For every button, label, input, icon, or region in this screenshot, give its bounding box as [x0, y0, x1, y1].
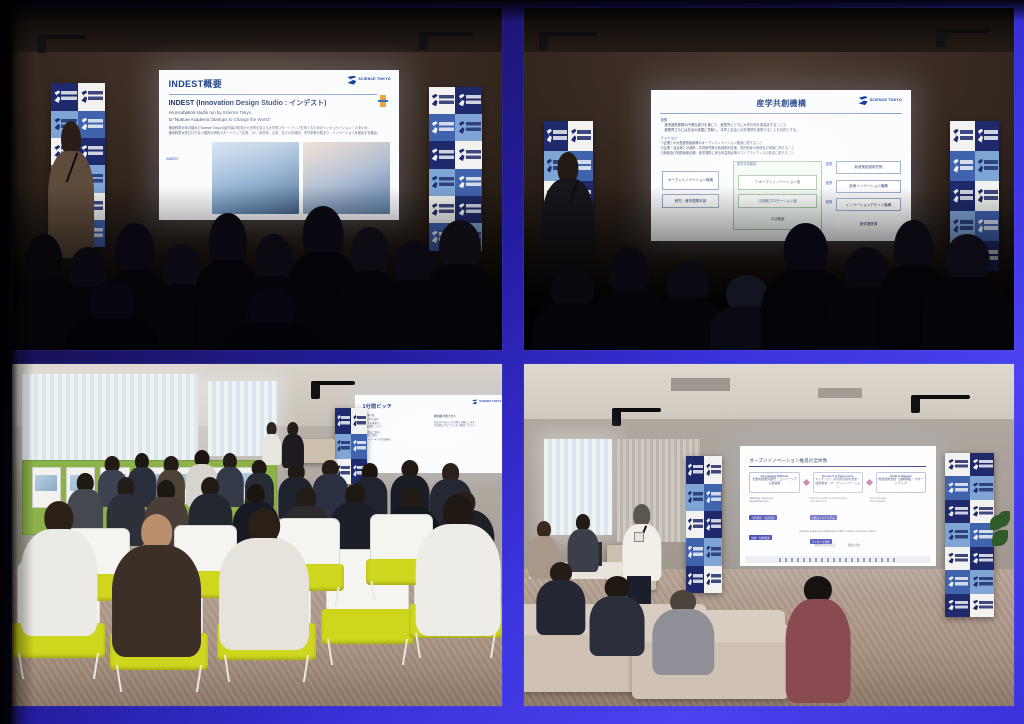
photo-panel-top-left[interactable]: SCIENCE TOKYO INDEST概要 INDEST (Innovatio…: [12, 8, 502, 350]
photo-panel-top-right[interactable]: SCIENCE TOKYO 産学共創機構 目的 産学連携業務の円滑な遂行を通じて…: [524, 8, 1014, 350]
audience-row: [12, 8, 502, 350]
audience-head: [81, 282, 145, 350]
audience-row: [524, 8, 1014, 350]
audience-head: [661, 261, 715, 350]
photo-panel-bottom-right[interactable]: オープンイノベーション推進の全体像 Co-creation Platform 大…: [524, 364, 1014, 706]
photo-grid: SCIENCE TOKYO INDEST概要 INDEST (Innovatio…: [12, 8, 1014, 706]
photo-collage: SCIENCE TOKYO INDEST概要 INDEST (Innovatio…: [0, 0, 1024, 724]
bright-seminar-room: SCIENCE TOKYO 1分間ピッチ 登壇者一覧 プログラム紹介 ピッチの進…: [12, 364, 502, 706]
front-row-attendees: [12, 364, 502, 706]
attendee-dark-shirt: [115, 514, 198, 651]
attendee-white-shirt: [223, 508, 306, 645]
audience-head: [433, 220, 487, 350]
audience-member-standing: [789, 576, 848, 699]
sofa-audience: [524, 364, 1014, 706]
audience-head: [602, 247, 656, 350]
audience-member: [656, 590, 710, 672]
audience-member: [539, 562, 583, 630]
photo-panel-bottom-left[interactable]: SCIENCE TOKYO 1分間ピッチ 登壇者一覧 プログラム紹介 ピッチの進…: [12, 364, 502, 706]
bright-lounge-room: オープンイノベーション推進の全体像 Co-creation Platform 大…: [524, 364, 1014, 706]
audience-head: [936, 234, 1000, 350]
dark-conference-room: SCIENCE TOKYO 産学共創機構 目的 産学連携業務の円滑な遂行を通じて…: [524, 8, 1014, 350]
dark-conference-room: SCIENCE TOKYO INDEST概要 INDEST (Innovatio…: [12, 8, 502, 350]
audience-member: [593, 576, 642, 651]
attendee-white-shirt: [22, 501, 96, 631]
attendee-white-shirt: [419, 494, 497, 631]
audience-head: [237, 288, 306, 350]
